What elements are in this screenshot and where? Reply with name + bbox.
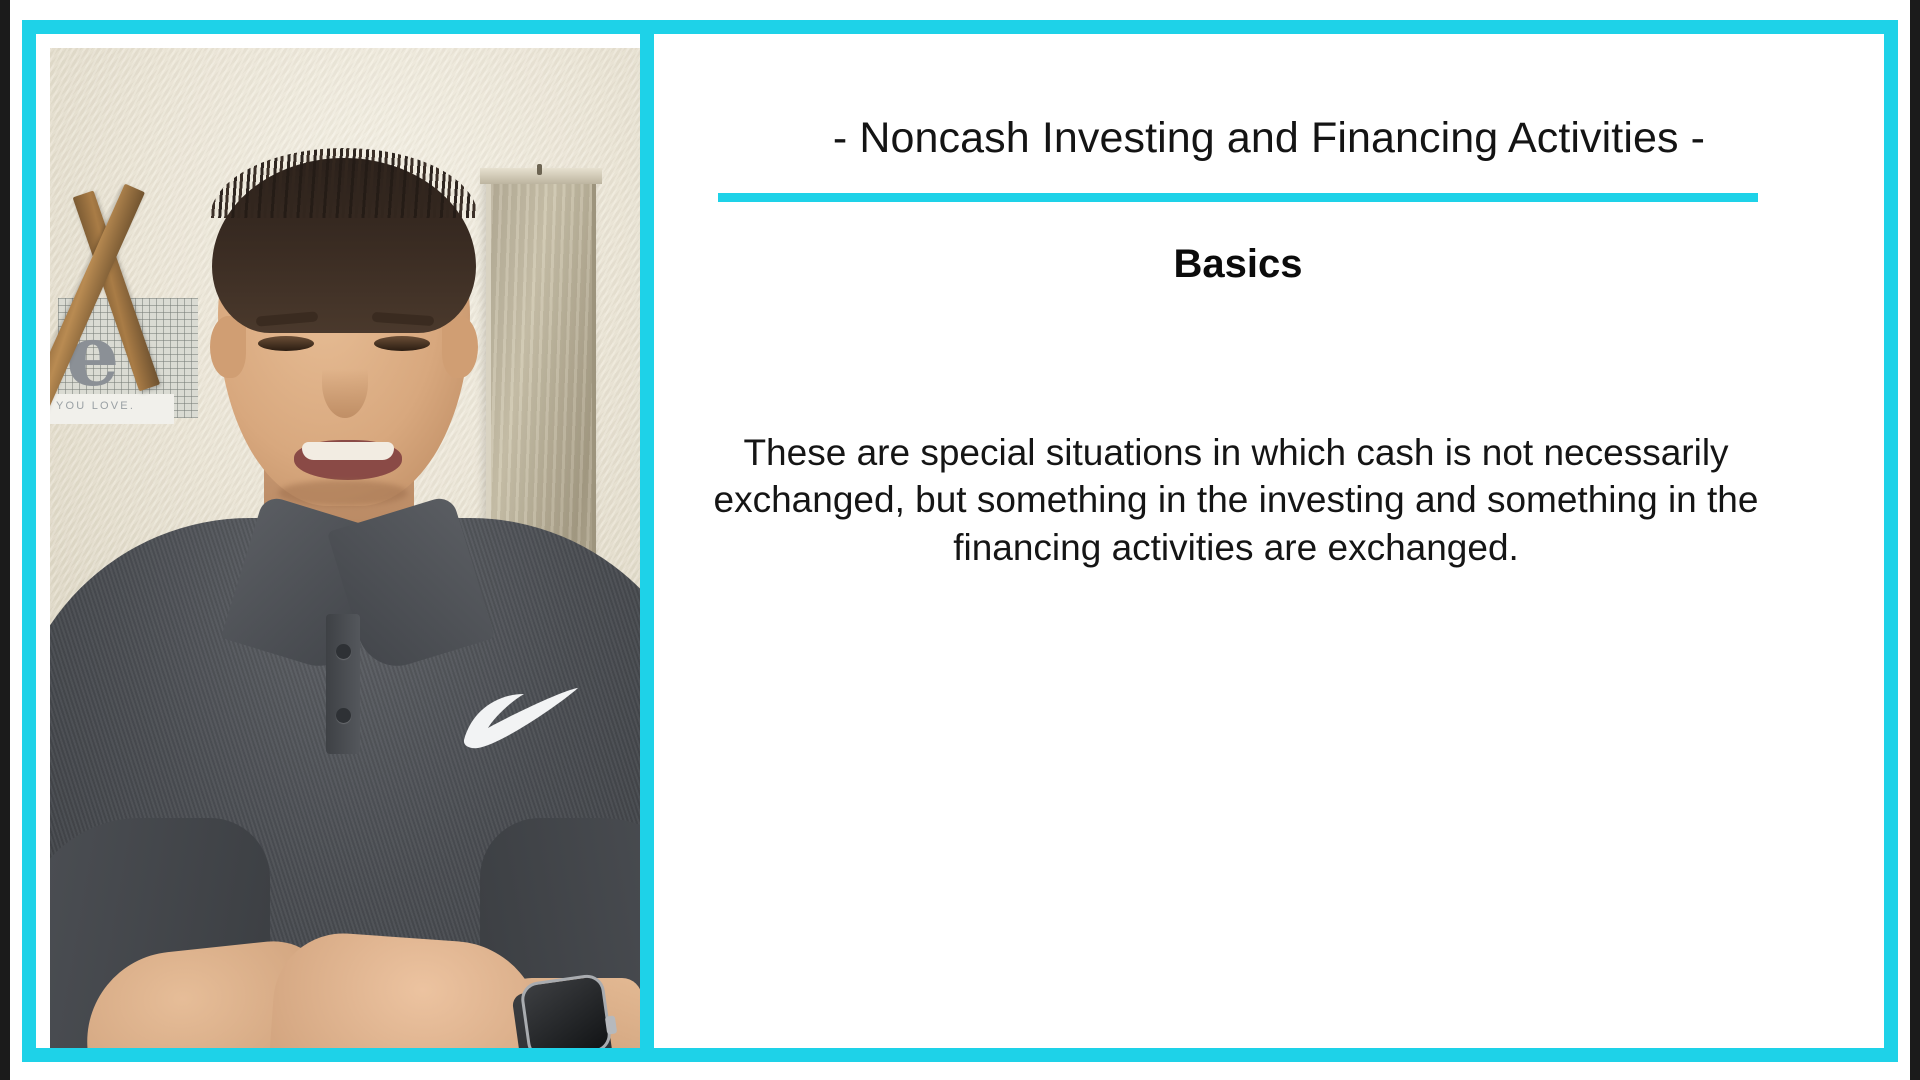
shirt-button-top xyxy=(336,644,351,659)
eye-right xyxy=(374,336,430,351)
panel-divider xyxy=(640,34,654,1048)
slide-body-text: These are special situations in which ca… xyxy=(706,429,1766,571)
section-heading: Basics xyxy=(714,242,1762,287)
slide-canvas: e YOU LOVE. xyxy=(0,0,1920,1080)
nike-swoosh-icon xyxy=(450,688,580,750)
slide-content-panel: - Noncash Investing and Financing Activi… xyxy=(654,34,1884,1048)
presenter-video-panel: e YOU LOVE. xyxy=(50,48,640,1048)
smartwatch-face xyxy=(519,973,613,1048)
decor-caption-text: YOU LOVE. xyxy=(56,400,186,422)
ear-right xyxy=(442,316,478,378)
frame-edge-left xyxy=(0,0,10,1080)
shirt-placket xyxy=(326,614,360,754)
ear-left xyxy=(210,316,246,378)
nose xyxy=(322,348,368,418)
chin-shadow xyxy=(278,480,408,506)
teeth xyxy=(302,442,394,460)
eye-left xyxy=(258,336,314,351)
frame-edge-right xyxy=(1910,0,1920,1080)
slide-cyan-frame: e YOU LOVE. xyxy=(22,20,1898,1062)
title-underline-rule xyxy=(718,193,1758,202)
shirt-button-bottom xyxy=(336,708,351,723)
plank-nail xyxy=(537,164,542,175)
slide-title: - Noncash Investing and Financing Activi… xyxy=(714,114,1824,163)
